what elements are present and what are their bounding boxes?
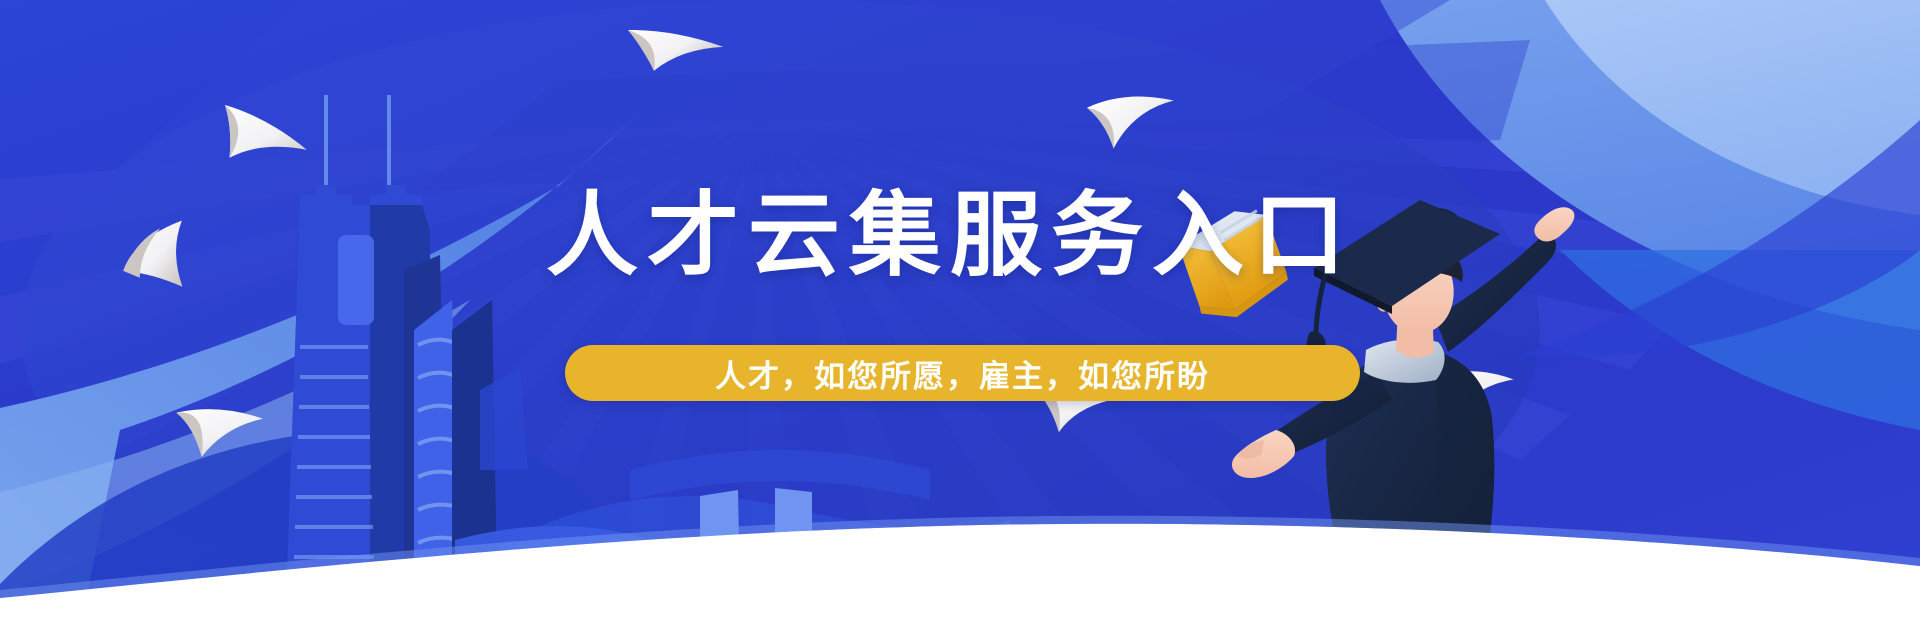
banner-background-artwork: [0, 0, 1920, 630]
hero-banner: 人才云集服务入口 人才，如您所愿，雇主，如您所盼: [0, 0, 1920, 630]
subtitle-badge-label: 人才，如您所愿，雇主，如您所盼: [715, 351, 1210, 396]
skyline-tower-window-panel: [338, 235, 374, 325]
subtitle-badge[interactable]: 人才，如您所愿，雇主，如您所盼: [565, 345, 1360, 401]
